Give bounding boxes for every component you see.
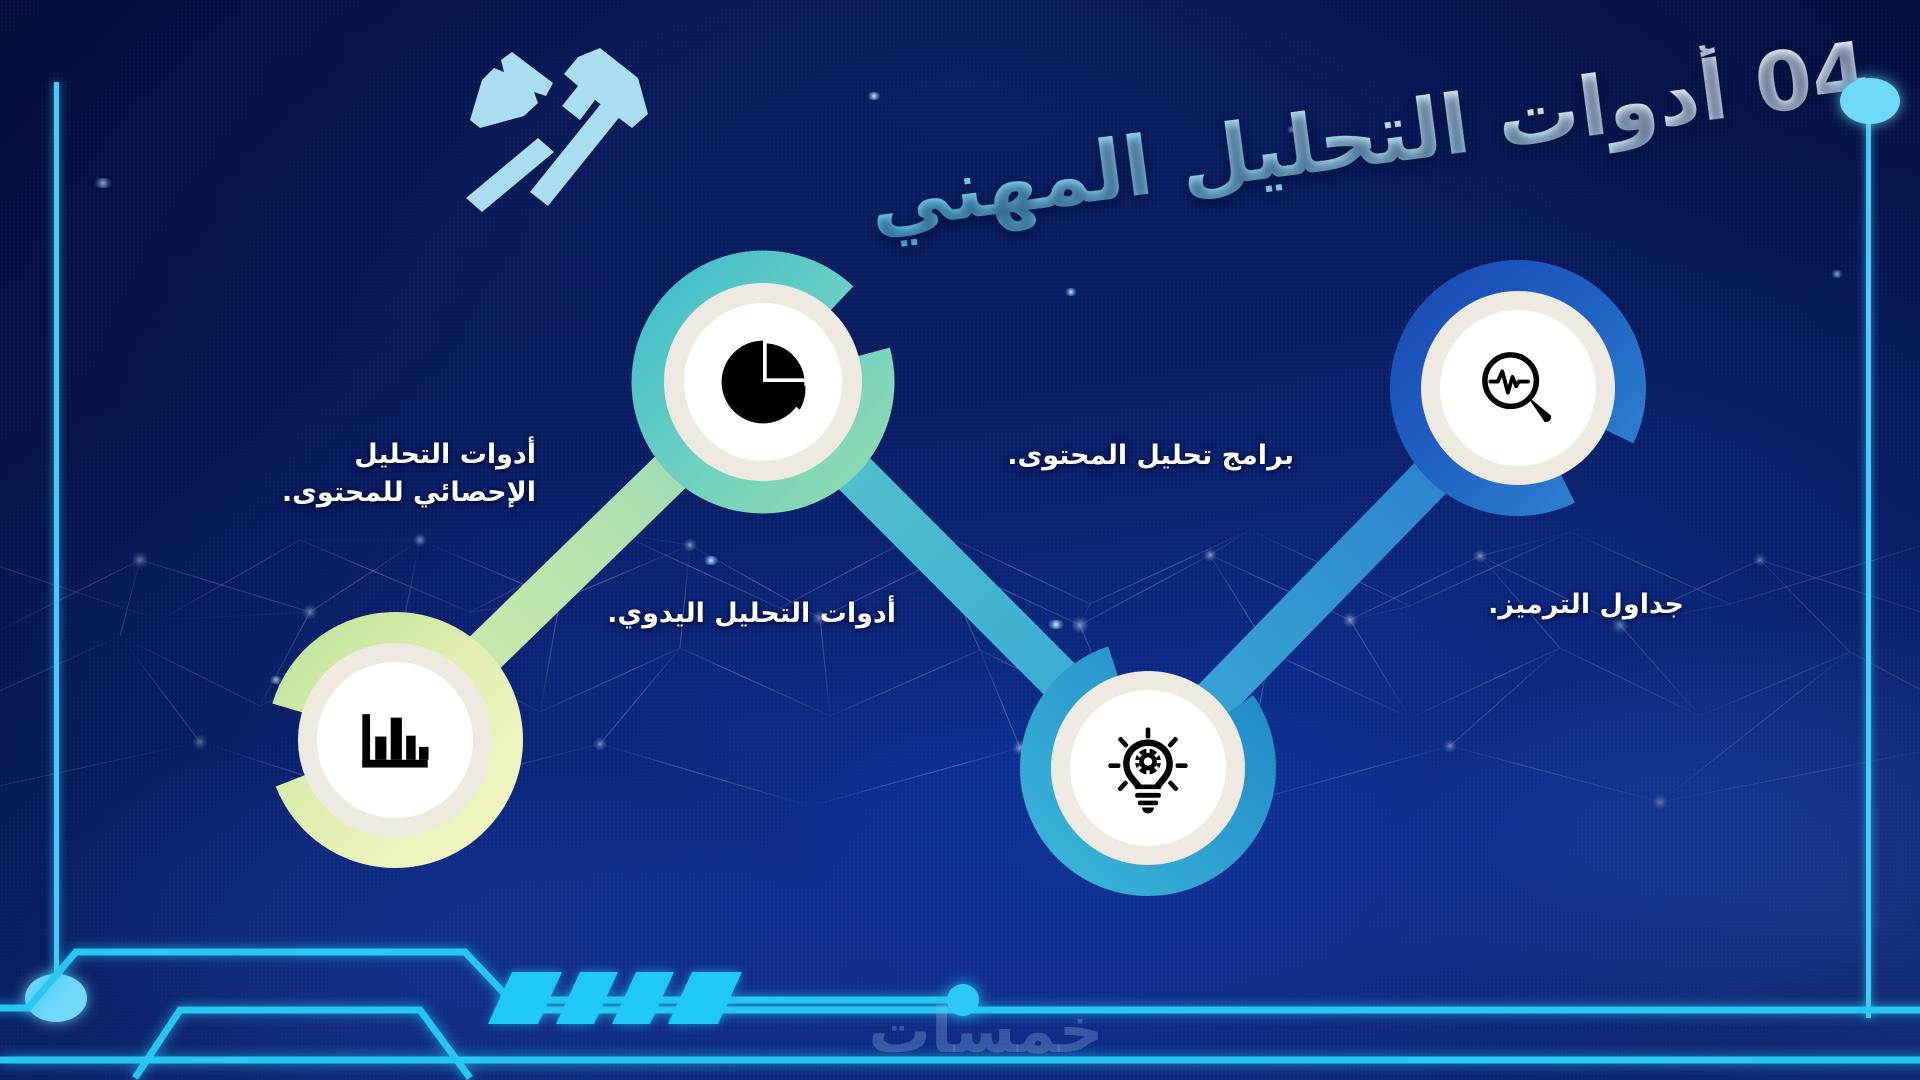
bar-chart-icon — [352, 697, 438, 783]
node-disc-inner-pie-chart — [684, 303, 842, 461]
label-manual-tools: أدوات التحليل اليدوي. — [560, 595, 896, 633]
label-coding-tables: جداول الترميز. — [1424, 586, 1684, 624]
left-rail-terminal-dot — [25, 974, 87, 1022]
pie-chart-icon — [717, 336, 809, 428]
node-disc-pie-chart — [664, 283, 862, 481]
left-rail-line — [54, 82, 59, 990]
connector-ribbons — [0, 0, 1920, 1080]
label-statistical-tools: أدوات التحليل الإحصائي للمحتوى. — [216, 436, 536, 513]
node-disc-bar-chart — [298, 643, 492, 837]
infographic-canvas: 04 أدوات التحليل المهني أدوات التحليل ال… — [0, 0, 1920, 1080]
node-disc-magnifier-pulse — [1421, 291, 1615, 485]
right-rail-line — [1866, 118, 1871, 1018]
node-disc-inner-bar-chart — [317, 662, 473, 818]
label-content-software: برامج تحليل المحتوى. — [958, 437, 1294, 475]
node-disc-inner-magnifier-pulse — [1440, 310, 1596, 466]
magnifier-pulse-icon — [1472, 342, 1564, 434]
node-disc-lightbulb-gear — [1051, 671, 1245, 865]
lightbulb-gear-icon — [1102, 722, 1194, 814]
right-rail-terminal-dot — [1840, 78, 1900, 124]
hammer-and-tools-icon — [452, 24, 662, 214]
node-disc-inner-lightbulb-gear — [1070, 690, 1226, 846]
watermark: خمسات — [836, 1000, 1136, 1062]
